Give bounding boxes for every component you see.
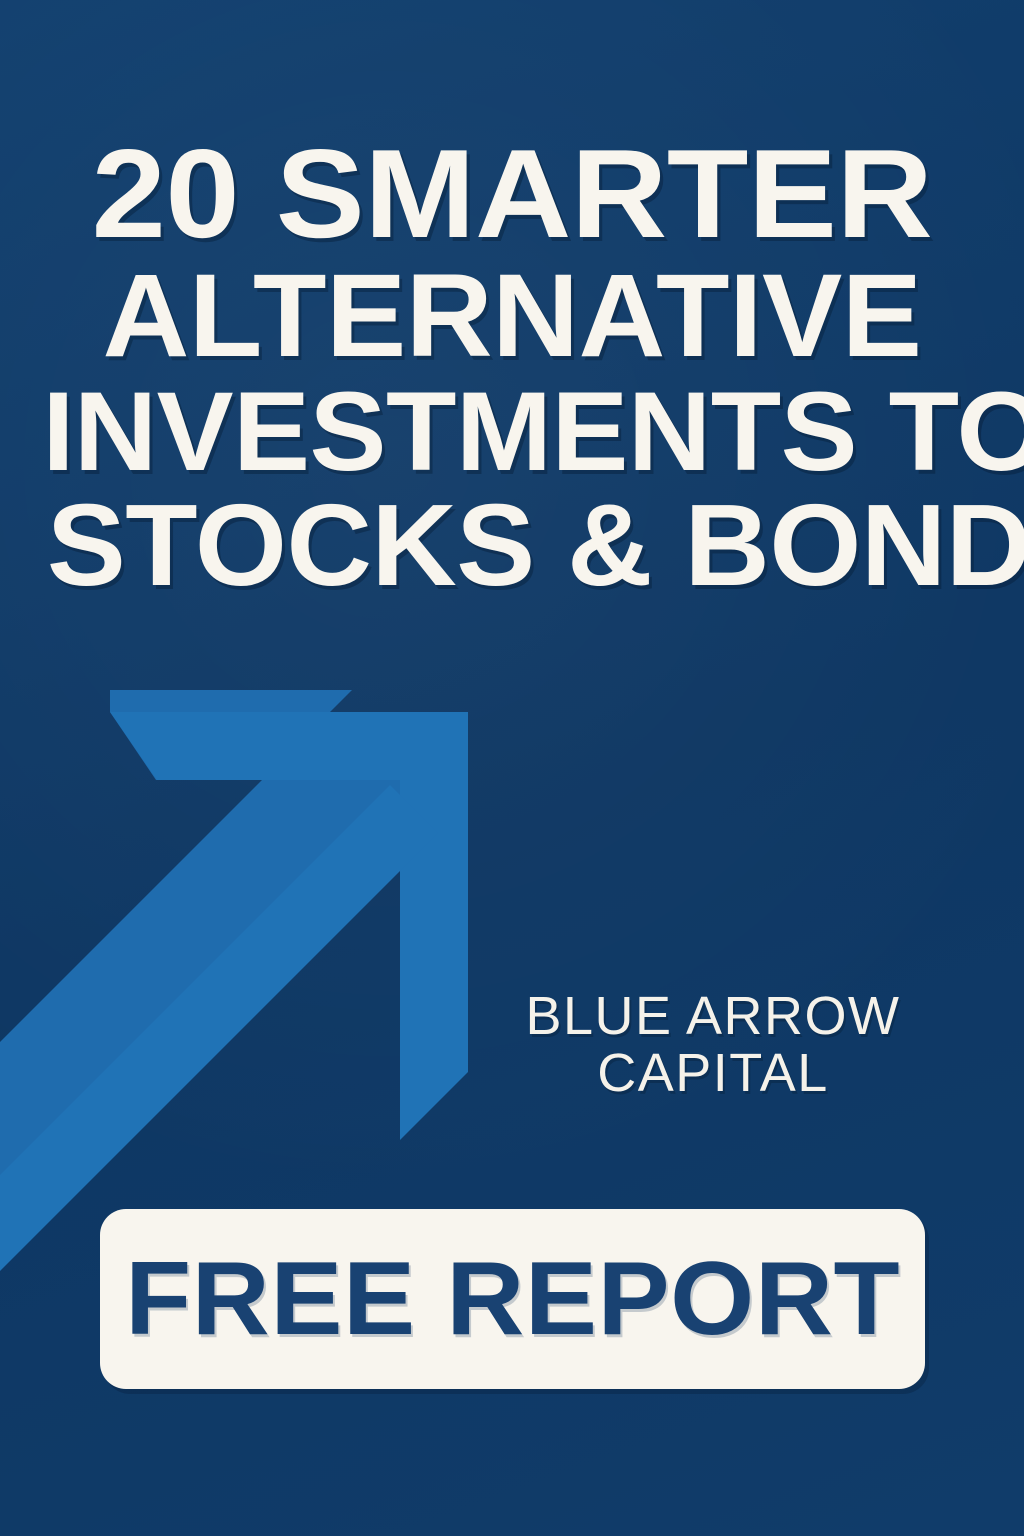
brand-name: BLUE ARROW CAPITAL [478, 988, 948, 1102]
page-title: 20 SMARTER ALTERNATIVE INVESTMENTS TO ST… [0, 132, 1024, 603]
headline-line-4: STOCKS & BONDS [47, 489, 977, 603]
up-right-arrow-icon [0, 690, 520, 1220]
brand-line-1: BLUE ARROW [478, 988, 948, 1045]
headline-line-2: ALTERNATIVE [47, 259, 977, 375]
free-report-button-label: FREE REPORT [125, 1247, 900, 1351]
brand-line-2: CAPITAL [478, 1045, 948, 1102]
headline-line-1: 20 SMARTER [29, 132, 996, 255]
free-report-button[interactable]: FREE REPORT [100, 1209, 925, 1389]
headline-line-3: INVESTMENTS TO [42, 377, 981, 487]
promo-poster: 20 SMARTER ALTERNATIVE INVESTMENTS TO ST… [0, 0, 1024, 1536]
